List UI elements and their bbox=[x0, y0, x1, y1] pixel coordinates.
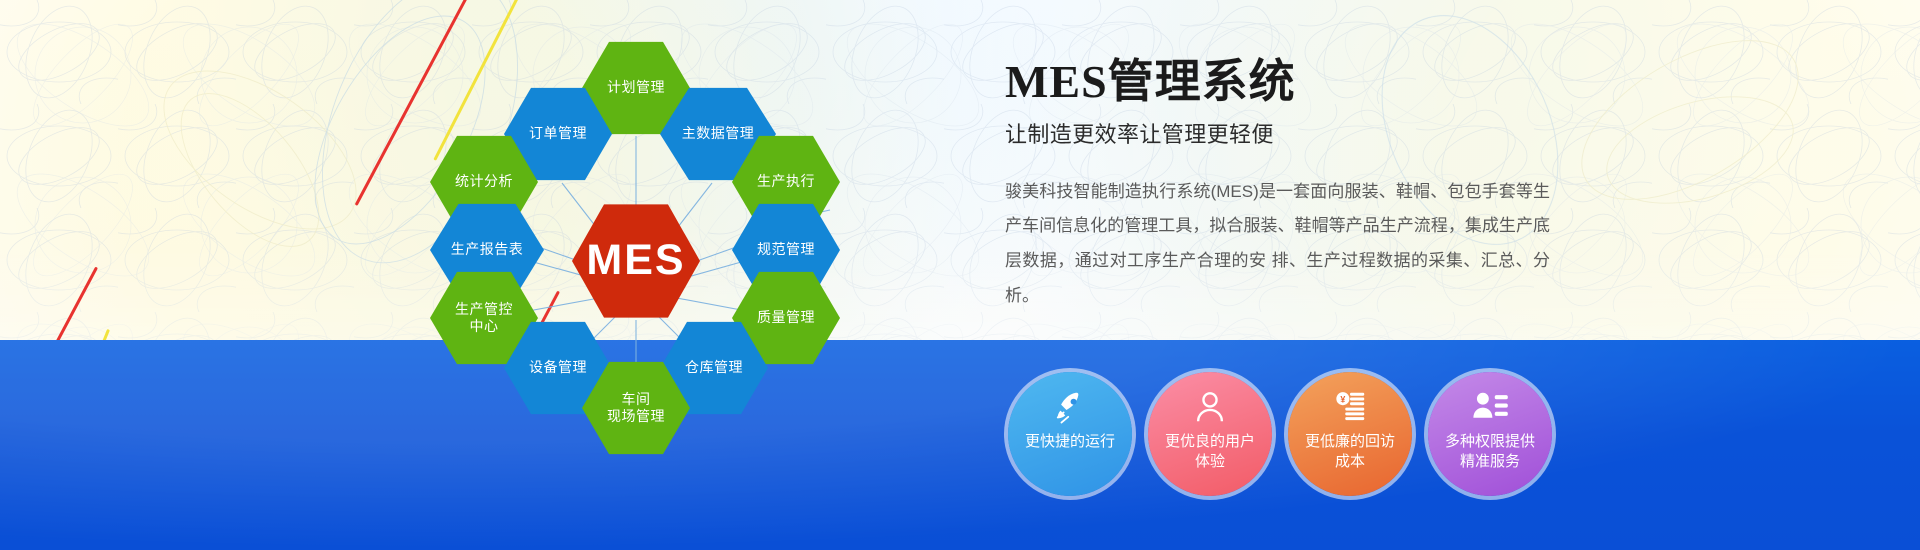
hex-label: 订单管理 bbox=[529, 125, 587, 143]
feature-circle-experience[interactable]: 更优良的用户体验 bbox=[1148, 372, 1272, 496]
feature-circle-list: 更快捷的运行 更优良的用户体验 bbox=[1008, 372, 1552, 496]
feature-label: 更快捷的运行 bbox=[1018, 432, 1122, 452]
hex-label: 规范管理 bbox=[757, 241, 815, 259]
hex-label: 设备管理 bbox=[529, 359, 587, 377]
hex-label: 生产执行 bbox=[757, 173, 815, 191]
hex-label: 生产报告表 bbox=[451, 241, 524, 259]
feature-circle-permission[interactable]: 多种权限提供精准服务 bbox=[1428, 372, 1552, 496]
band-sheen bbox=[0, 340, 1920, 550]
page-description: 骏美科技智能制造执行系统(MES)是一套面向服装、鞋帽、包包手套等生产车间信息化… bbox=[1005, 175, 1550, 314]
feature-label: 更低廉的回访成本 bbox=[1298, 432, 1402, 473]
hex-label: 主数据管理 bbox=[682, 125, 755, 143]
feature-circle-speed[interactable]: 更快捷的运行 bbox=[1008, 372, 1132, 496]
page-subtitle: 让制造更效率让管理更轻便 bbox=[1005, 117, 1565, 149]
hex-label: 仓库管理 bbox=[685, 359, 743, 377]
hex-label: 统计分析 bbox=[455, 173, 513, 191]
hex-center-label: MES bbox=[586, 234, 685, 288]
blue-band bbox=[0, 340, 1920, 550]
hex-label: 质量管理 bbox=[757, 309, 815, 327]
banner-text-column: MES管理系统 让制造更效率让管理更轻便 骏美科技智能制造执行系统(MES)是一… bbox=[1005, 56, 1565, 314]
feature-label: 多种权限提供精准服务 bbox=[1438, 432, 1542, 473]
mes-banner: MES 计划管理 订单管理 主数据管理 统计分析 生产执行 生产报告表 规范管理… bbox=[0, 0, 1920, 550]
user-list-icon bbox=[1471, 388, 1509, 426]
coins-icon: ¥ bbox=[1331, 388, 1369, 426]
hex-label: 生产管控中心 bbox=[455, 301, 513, 336]
page-title: MES管理系统 bbox=[1005, 56, 1565, 108]
feature-label: 更优良的用户体验 bbox=[1158, 432, 1262, 473]
user-icon bbox=[1191, 388, 1229, 426]
mes-hexagon-diagram: MES 计划管理 订单管理 主数据管理 统计分析 生产执行 生产报告表 规范管理… bbox=[430, 20, 900, 460]
hex-label: 车间现场管理 bbox=[607, 391, 665, 426]
svg-text:¥: ¥ bbox=[1340, 394, 1345, 404]
hex-label: 计划管理 bbox=[607, 79, 665, 97]
rocket-icon bbox=[1051, 388, 1089, 426]
feature-circle-cost[interactable]: ¥ 更低廉的回访成本 bbox=[1288, 372, 1412, 496]
